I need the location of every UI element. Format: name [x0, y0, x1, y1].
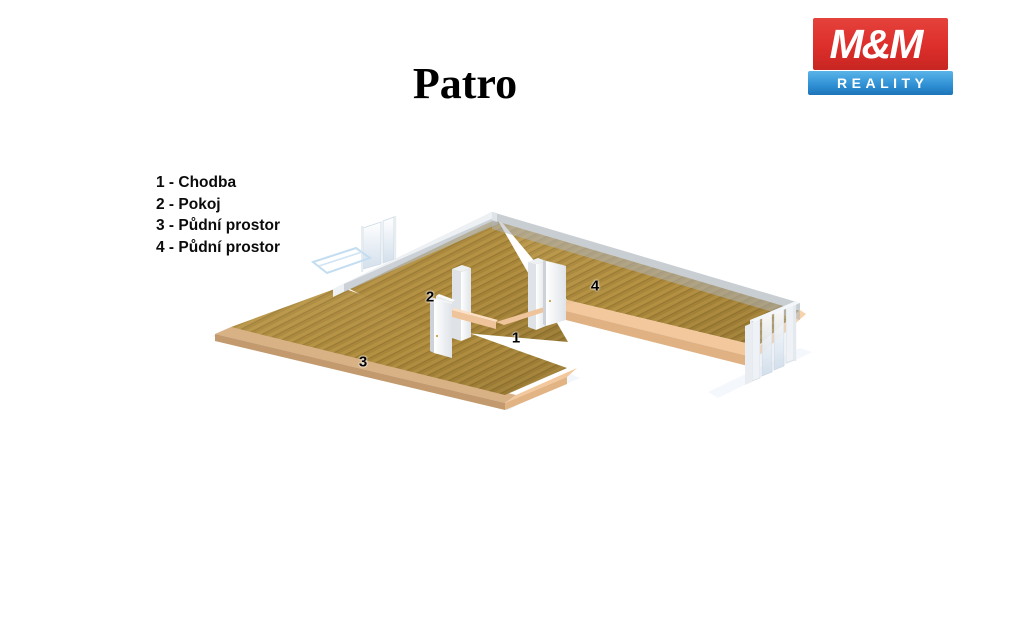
legend-item-2: 2 - Pokoj [156, 194, 280, 216]
logo-tagline-text: REALITY [808, 71, 953, 95]
room-label-1: 1 [512, 330, 520, 347]
legend-item-3: 3 - Půdní prostor [156, 215, 280, 237]
legend: 1 - Chodba 2 - Pokoj 3 - Půdní prostor 4… [156, 172, 280, 258]
room-label-2: 2 [426, 289, 434, 306]
wall-room4-right-corner [745, 323, 752, 385]
room-label-3: 3 [359, 354, 367, 371]
mm-reality-logo: M&M REALITY [808, 18, 953, 98]
logo-brand-text: M&M [808, 18, 943, 70]
room-label-4: 4 [591, 278, 599, 295]
door-hallway-to-room4 [543, 260, 566, 326]
legend-item-4: 4 - Půdní prostor [156, 237, 280, 259]
page-title: Patro [0, 62, 930, 106]
floorplan-page: Patro 1 - Chodba 2 - Pokoj 3 - Půdní pro… [0, 0, 1024, 620]
legend-item-1: 1 - Chodba [156, 172, 280, 194]
door-hallway-to-room2 [430, 297, 452, 358]
